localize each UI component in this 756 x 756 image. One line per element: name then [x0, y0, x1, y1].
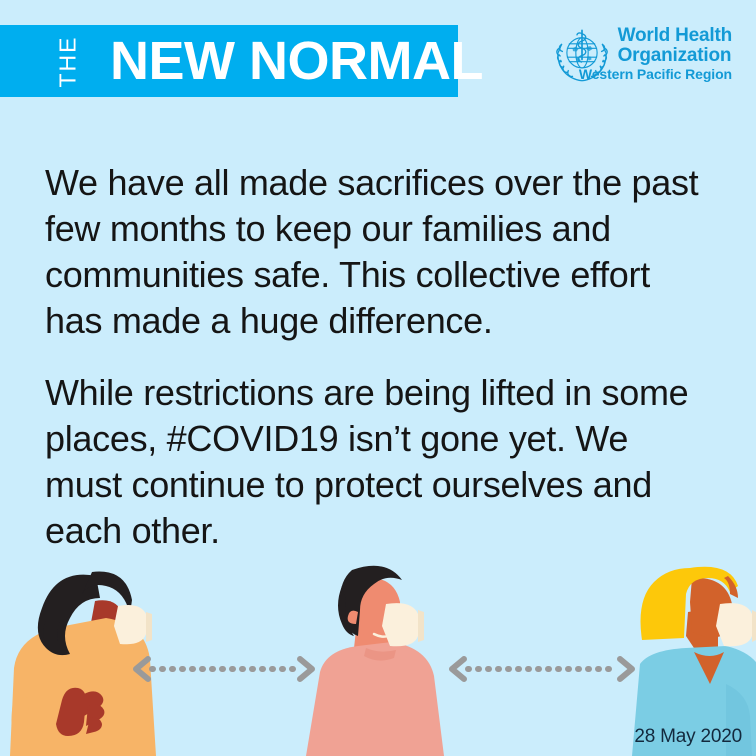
paragraph-2: While restrictions are being lifted in s… [45, 370, 705, 554]
page-title: NEW NORMAL [110, 34, 483, 88]
distance-arrow-left [136, 659, 312, 679]
title-prefix-the: THE [57, 35, 80, 87]
title-banner: THE NEW NORMAL [0, 25, 458, 97]
message-body: We have all made sacrifices over the pas… [45, 160, 705, 580]
who-logo-region: Western Pacific Region [558, 66, 732, 82]
figure-man-salmon [306, 566, 444, 756]
distance-arrow-right [452, 659, 632, 679]
who-logo-line2: Organization [618, 46, 732, 66]
date-stamp: 28 May 2020 [634, 726, 742, 748]
who-logo-line1: World Health [618, 26, 732, 46]
social-media-card: THE NEW NORMAL [0, 0, 756, 756]
figure-woman-orange [10, 572, 156, 756]
who-logo-text: World Health Organization Western Pacifi… [618, 26, 732, 82]
paragraph-1: We have all made sacrifices over the pas… [45, 160, 705, 344]
who-logo: World Health Organization Western Pacifi… [554, 26, 732, 83]
